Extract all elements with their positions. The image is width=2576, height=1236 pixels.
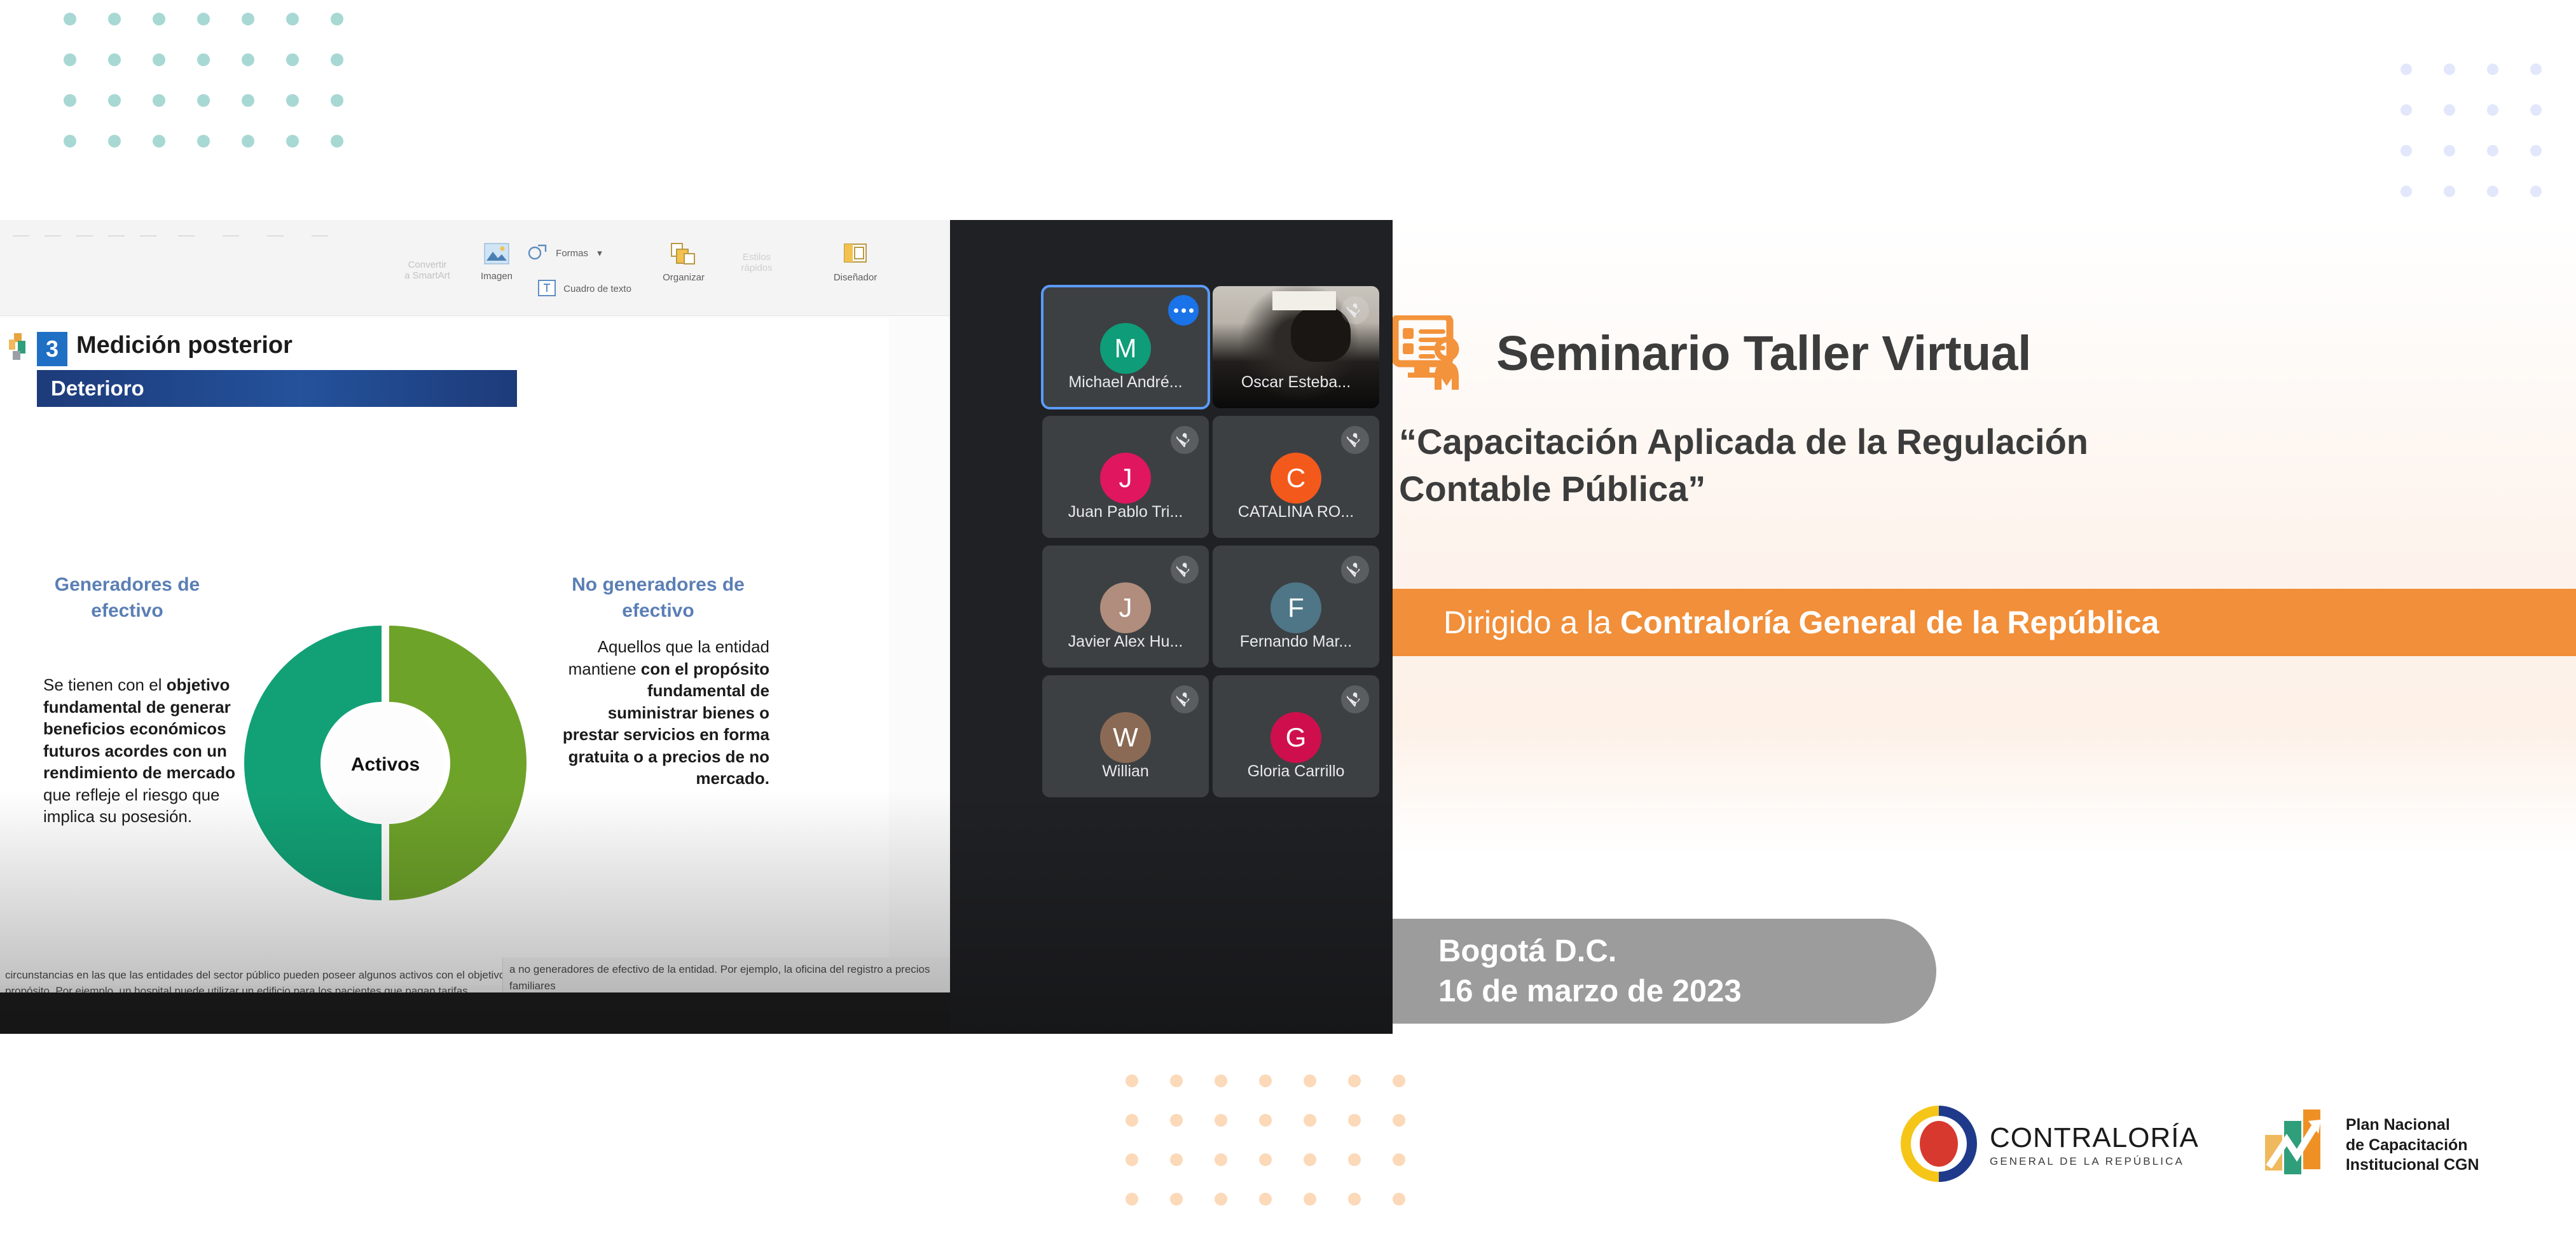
decorative-dot (286, 53, 299, 66)
participant-tile[interactable]: JJavier Alex Hu... (1042, 546, 1209, 668)
decorative-dot (331, 135, 343, 148)
ribbon-organize-button[interactable]: Organizar (649, 243, 719, 283)
poster-subtitle-line-1: “Capacitación Aplicada de la Regulación (1399, 418, 2353, 465)
decorative-dot (1126, 1193, 1138, 1205)
decorative-dot (331, 13, 343, 25)
avatar: J (1100, 453, 1151, 504)
decorative-dot (1304, 1193, 1316, 1205)
ribbon-organize-label: Organizar (663, 272, 705, 283)
pncgn-logo: Plan Nacional de Capacitación Institucio… (2263, 1106, 2479, 1185)
participant-tile[interactable]: JJuan Pablo Tri... (1042, 416, 1209, 538)
ribbon-styles-label-2: rápidos (741, 263, 772, 273)
decorative-dot (1259, 1075, 1272, 1087)
participant-tile[interactable]: GGloria Carrillo (1213, 675, 1379, 797)
decorative-dot (2530, 145, 2542, 156)
ribbon-styles-label-1: Estilos (743, 252, 771, 263)
mic-muted-icon (1341, 296, 1369, 324)
pncgn-logo-text: Plan Nacional de Capacitación Institucio… (2346, 1115, 2479, 1176)
decorative-dot (64, 53, 76, 66)
pncgn-mark-icon (2263, 1106, 2336, 1185)
decorative-dot (1215, 1075, 1227, 1087)
page-title: Seminario Taller Virtual (1496, 326, 2031, 382)
decorative-dot (64, 94, 76, 107)
avatar: G (1271, 712, 1321, 763)
pncgn-logo-line-2: de Capacitación (2346, 1136, 2468, 1154)
decorative-dot (153, 13, 165, 25)
decorative-dot (1259, 1114, 1272, 1127)
decorative-dot (286, 94, 299, 107)
decorative-dot (1348, 1153, 1361, 1166)
decorative-dot (64, 135, 76, 148)
date-value: 16 de marzo de 2023 (1438, 972, 1936, 1012)
slide-step-number: 3 (37, 332, 67, 366)
decorative-dot (1259, 1153, 1272, 1166)
picture-icon (467, 243, 526, 267)
chart-label-line: Generadores de (19, 572, 235, 598)
decorative-dot (1393, 1193, 1405, 1205)
chart-label-line: efectivo (19, 598, 235, 624)
avatar: W (1100, 712, 1151, 763)
mic-muted-icon (1341, 556, 1369, 584)
chart-label-line: efectivo (547, 598, 769, 624)
decorative-dot (153, 135, 165, 148)
designer-icon (817, 243, 893, 268)
decorative-dot (286, 135, 299, 148)
decorative-dot (153, 53, 165, 66)
ribbon-image-label: Imagen (481, 271, 513, 282)
participant-tile[interactable]: Oscar Esteba... (1213, 286, 1379, 408)
contraloria-subtitle: GENERAL DE LA REPÚBLICA (1990, 1156, 2199, 1167)
decorative-dot (2400, 64, 2412, 75)
contraloria-mark-icon (1898, 1103, 1980, 1188)
mic-muted-icon (1341, 426, 1369, 454)
decorative-dot (1126, 1075, 1138, 1087)
mic-muted-icon (1171, 556, 1199, 584)
activos-donut-chart: Activos (229, 610, 534, 916)
decorative-dot (2400, 104, 2412, 116)
powerpoint-window: Convertir a SmartArt Imagen Formas ▾ (0, 220, 950, 992)
avatar: J (1100, 582, 1151, 633)
decorative-dot (242, 94, 254, 107)
decorative-dot (2444, 145, 2455, 156)
slide-text-run: que refleje el riesgo que implica su pos… (43, 785, 220, 827)
decorative-dot (242, 53, 254, 66)
decorative-dot-grid-teal (64, 13, 375, 175)
decorative-dot (331, 53, 343, 66)
decorative-dot (64, 13, 76, 25)
slide-canvas: 3 Medición posterior Deterioro Generador… (0, 318, 889, 985)
decorative-dot (242, 13, 254, 25)
decorative-dot (2487, 64, 2498, 75)
decorative-dot (1304, 1075, 1316, 1087)
chevron-down-icon[interactable]: ▾ (597, 248, 602, 259)
decorative-dot (108, 94, 121, 107)
chart-label-right: No generadores deefectivo (547, 572, 769, 624)
decorative-dot (197, 94, 210, 107)
decorative-dot (2487, 104, 2498, 116)
poster-title-row: Seminario Taller Virtual (1393, 315, 2031, 392)
decorative-dot (2530, 104, 2542, 116)
decorative-dot (242, 135, 254, 148)
decorative-dot-grid-peach (1126, 1075, 1437, 1232)
chart-label-left: Generadores deefectivo (19, 572, 235, 624)
mic-muted-icon (1171, 426, 1199, 454)
ribbon-convert-label-2: a SmartArt (404, 270, 450, 281)
decorative-dot (2530, 64, 2542, 75)
event-poster-panel: Seminario Taller Virtual “Capacitación A… (1393, 220, 2576, 1034)
participant-tile[interactable]: WWillian (1042, 675, 1209, 797)
google-meet-participant-rail: MMichael André...Oscar Esteba...JJuan Pa… (950, 220, 1393, 1034)
decorative-dot (2487, 186, 2498, 197)
slide-subheading-bar: Deterioro (37, 370, 517, 407)
shared-screen-capture: Convertir a SmartArt Imagen Formas ▾ (0, 220, 1393, 1034)
decorative-dot (1304, 1153, 1316, 1166)
audience-banner-bold: Contraloría General de la República (1620, 605, 2159, 640)
powerpoint-ribbon: Convertir a SmartArt Imagen Formas ▾ (0, 220, 950, 316)
decorative-dot (2444, 186, 2455, 197)
avatar: F (1271, 582, 1321, 633)
arrange-icon (649, 243, 719, 268)
participant-name: Oscar Esteba... (1213, 373, 1379, 392)
audience-banner-prefix: Dirigido a la (1443, 605, 1620, 640)
decorative-dot (1393, 1114, 1405, 1127)
avatar: M (1100, 323, 1151, 374)
decorative-dot (1348, 1114, 1361, 1127)
footer-logos: CONTRALORÍA GENERAL DE LA REPÚBLICA Plan… (1898, 1103, 2479, 1188)
ribbon-designer-label: Diseñador (834, 272, 877, 283)
ribbon-shapes-label: Formas (556, 248, 588, 259)
textbox-icon (538, 280, 556, 299)
contraloria-logo: CONTRALORÍA GENERAL DE LA REPÚBLICA (1898, 1103, 2199, 1188)
ribbon-convert-label-1: Convertir (408, 259, 447, 270)
participant-name: Fernando Mar... (1213, 633, 1379, 651)
decorative-dot (1215, 1193, 1227, 1205)
participant-tile[interactable]: CCATALINA RO... (1213, 416, 1379, 538)
date-location-badge: Bogotá D.C. 16 de marzo de 2023 (1393, 919, 1936, 1024)
decorative-dot (197, 53, 210, 66)
decorative-dot (2400, 145, 2412, 156)
audience-banner-text: Dirigido a la Contraloría General de la … (1443, 604, 2159, 641)
decorative-dot (108, 13, 121, 25)
participant-name: Juan Pablo Tri... (1042, 503, 1209, 521)
participant-name: Javier Alex Hu... (1042, 633, 1209, 651)
slide-text-bold-run: con el propósito fundamental de suminist… (563, 659, 769, 788)
decorative-dot (2444, 104, 2455, 116)
decorative-dot (1170, 1075, 1183, 1087)
date-city: Bogotá D.C. (1438, 931, 1936, 972)
slide-text-right: Aquellos que la entidad mantiene con el … (560, 636, 769, 790)
ribbon-textbox-label: Cuadro de texto (563, 284, 631, 294)
slide-text-left: Se tienen con el objetivo fundamental de… (43, 674, 253, 828)
decorative-dot (1170, 1114, 1183, 1127)
participant-name: Willian (1042, 762, 1209, 781)
ribbon-quick-access-ghost (0, 220, 382, 256)
slide-heading: Medición posterior (76, 332, 293, 359)
decorative-dot (1348, 1075, 1361, 1087)
poster-subtitle-line-2: Contable Pública” (1399, 465, 2353, 512)
participant-tile[interactable]: FFernando Mar... (1213, 546, 1379, 668)
slide-decoration-icon (5, 329, 34, 365)
decorative-dot (1393, 1075, 1405, 1087)
contraloria-logo-text: CONTRALORÍA GENERAL DE LA REPÚBLICA (1990, 1124, 2199, 1167)
decorative-dot (2487, 145, 2498, 156)
decorative-dot (197, 13, 210, 25)
avatar: C (1271, 453, 1321, 504)
decorative-dot (286, 13, 299, 25)
ribbon-shapes-button[interactable]: Formas ▾ (528, 243, 642, 264)
decorative-dot (1393, 1153, 1405, 1166)
mic-muted-icon (1171, 685, 1199, 713)
ribbon-image-button[interactable]: Imagen (467, 243, 526, 282)
chart-label-line: No generadores de (547, 572, 769, 598)
participant-name: Gloria Carrillo (1213, 762, 1379, 781)
decorative-dot (1304, 1114, 1316, 1127)
poster-subtitle: “Capacitación Aplicada de la Regulación … (1399, 418, 2353, 513)
decorative-dot (1259, 1193, 1272, 1205)
mic-muted-icon (1341, 685, 1369, 713)
pncgn-logo-line-1: Plan Nacional (2346, 1116, 2450, 1134)
decorative-dot (1348, 1193, 1361, 1205)
ribbon-quick-styles-button[interactable]: Estilos rápidos (722, 252, 792, 273)
decorative-dot (1170, 1193, 1183, 1205)
ribbon-designer-button[interactable]: Diseñador (817, 243, 893, 283)
decorative-dot (1126, 1153, 1138, 1166)
decorative-dot (2400, 186, 2412, 197)
more-options-icon[interactable] (1168, 295, 1199, 326)
decorative-dot (331, 94, 343, 107)
audience-banner: Dirigido a la Contraloría General de la … (1393, 589, 2576, 656)
decorative-dot (108, 135, 121, 148)
decorative-dot (1215, 1153, 1227, 1166)
decorative-dot (2530, 186, 2542, 197)
ribbon-convert-smartart[interactable]: Convertir a SmartArt (389, 259, 465, 281)
decorative-dot (1126, 1114, 1138, 1127)
svg-text:Activos: Activos (351, 754, 420, 775)
decorative-dot (153, 94, 165, 107)
decorative-dot (197, 135, 210, 148)
participant-tile[interactable]: MMichael André... (1042, 286, 1209, 408)
shapes-icon (528, 243, 548, 264)
participant-name: Michael André... (1042, 373, 1209, 392)
decorative-dot (1215, 1114, 1227, 1127)
slide-subheading-label: Deterioro (51, 376, 144, 401)
participant-name: CATALINA RO... (1213, 503, 1379, 521)
online-training-monitor-icon (1393, 315, 1472, 392)
pncgn-logo-line-3: Institucional CGN (2346, 1156, 2479, 1174)
decorative-dot (108, 53, 121, 66)
decorative-dot (2444, 64, 2455, 75)
slide-text-run: Se tienen con el (43, 675, 167, 694)
secondary-window-text: a no generadores de efectivo de la entid… (502, 958, 950, 992)
contraloria-name: CONTRALORÍA (1990, 1124, 2199, 1152)
decorative-dot (1170, 1153, 1183, 1166)
